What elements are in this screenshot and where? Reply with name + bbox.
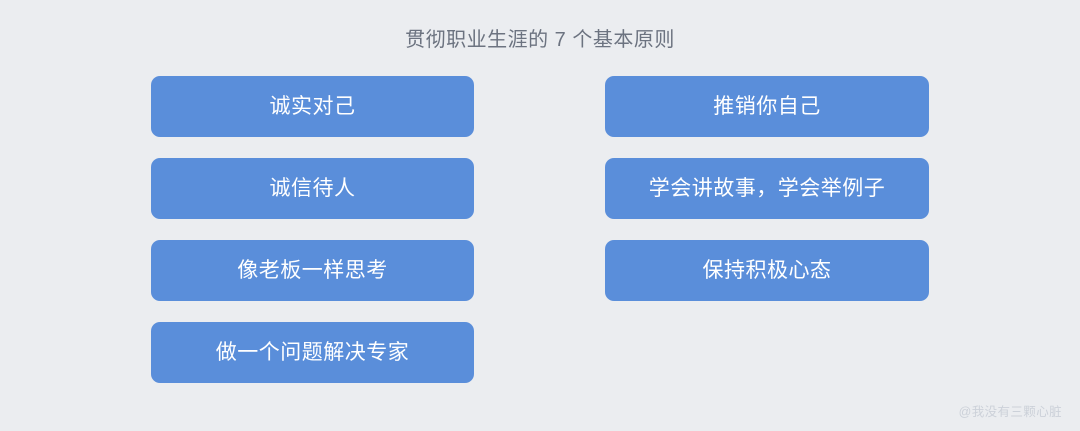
principles-grid: 诚实对己 诚信待人 像老板一样思考 做一个问题解决专家 推销你自己 学会讲故事，… — [151, 76, 929, 383]
principle-card[interactable]: 像老板一样思考 — [151, 240, 474, 301]
principles-column-left: 诚实对己 诚信待人 像老板一样思考 做一个问题解决专家 — [151, 76, 474, 383]
watermark: @我没有三颗心脏 — [959, 403, 1062, 421]
principle-card[interactable]: 推销你自己 — [605, 76, 929, 137]
page-title: 贯彻职业生涯的 7 个基本原则 — [0, 26, 1080, 54]
principle-card[interactable]: 诚信待人 — [151, 158, 474, 219]
principle-card[interactable]: 做一个问题解决专家 — [151, 322, 474, 383]
principle-card[interactable]: 诚实对己 — [151, 76, 474, 137]
principles-column-right: 推销你自己 学会讲故事，学会举例子 保持积极心态 — [605, 76, 929, 301]
principle-card[interactable]: 保持积极心态 — [605, 240, 929, 301]
slide-canvas: 贯彻职业生涯的 7 个基本原则 诚实对己 诚信待人 像老板一样思考 做一个问题解… — [0, 0, 1080, 431]
principle-card[interactable]: 学会讲故事，学会举例子 — [605, 158, 929, 219]
